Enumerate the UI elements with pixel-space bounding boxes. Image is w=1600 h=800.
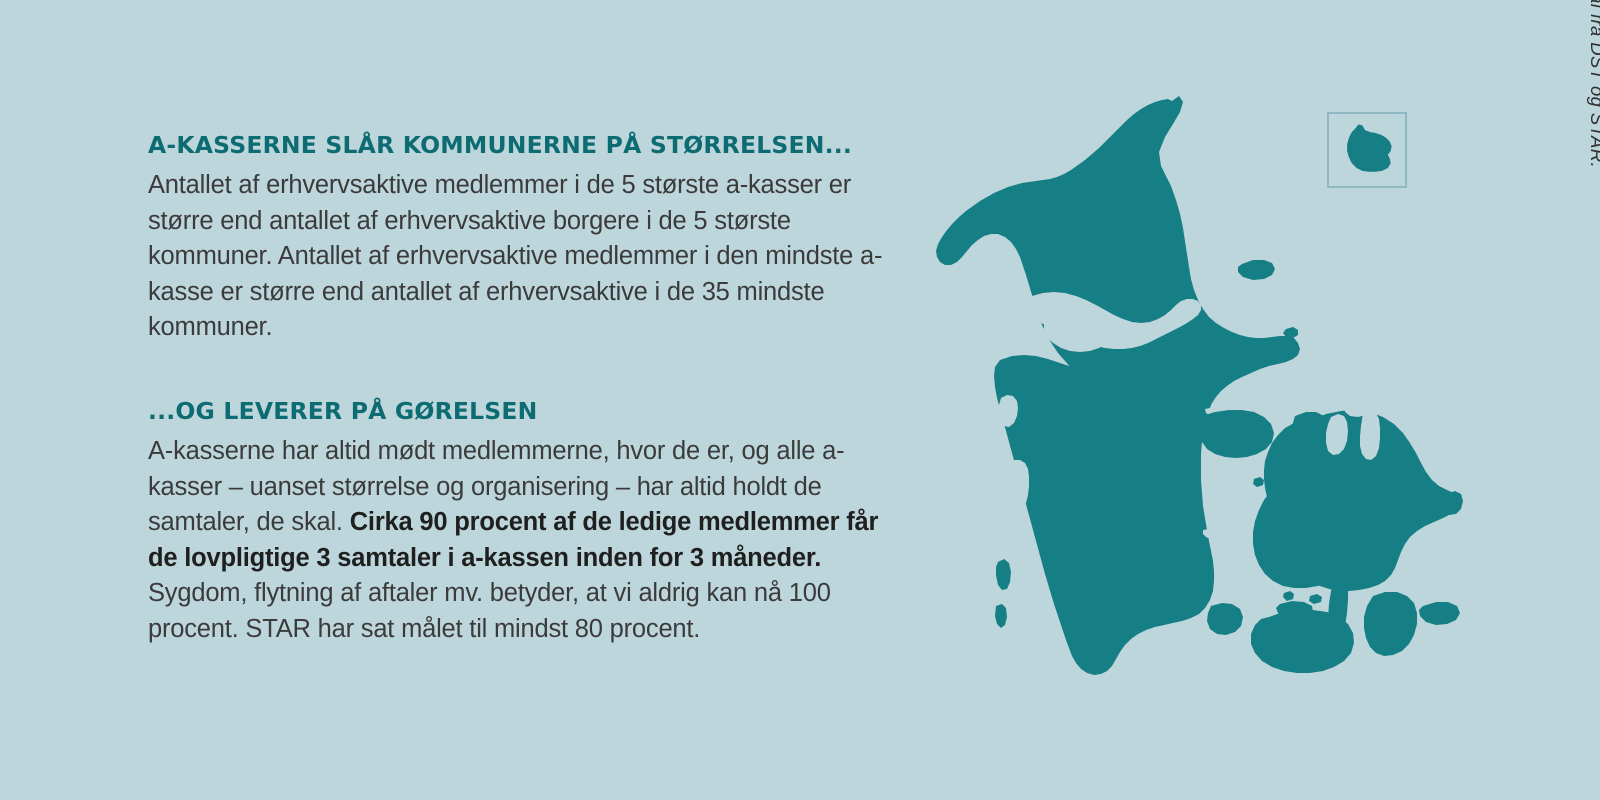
djursland (1200, 410, 1274, 458)
jutland-mainland (994, 355, 1214, 675)
section-body-stoerrelsen: Antallet af erhvervsaktive medlemmer i d… (148, 168, 908, 346)
fanoe-island (996, 559, 1011, 590)
moen-island (1419, 602, 1460, 625)
falster-island (1364, 592, 1417, 656)
roskilde-fjord (1360, 411, 1380, 460)
section-goerelsen: ...OG LEVERER PÅ GØRELSEN A-kasserne har… (148, 398, 908, 648)
bornholm-inset (1327, 112, 1407, 188)
horsens-fjord (1202, 484, 1243, 498)
text-run: Antallet af erhvervsaktive medlemmer i d… (148, 171, 882, 341)
section-heading-goerelsen: ...OG LEVERER PÅ GØRELSEN (148, 398, 908, 425)
endelave-island (1253, 477, 1264, 487)
lolland-island (1251, 610, 1354, 673)
denmark-map (880, 60, 1500, 720)
section-stoerrelsen: A-KASSERNE SLÅR KOMMUNERNE PÅ STØRRELSEN… (148, 132, 908, 346)
text-run: Sygdom, flytning af aftaler mv. betyder,… (148, 579, 831, 643)
infographic-poster: A-KASSERNE SLÅR KOMMUNERNE PÅ STØRRELSEN… (0, 0, 1600, 800)
section-body-goerelsen: A-kasserne har altid mødt medlemmerne, h… (148, 434, 908, 648)
text-column: A-KASSERNE SLÅR KOMMUNERNE PÅ STØRRELSEN… (148, 132, 908, 648)
limfjord-branch-west (983, 313, 1026, 344)
section-heading-stoerrelsen: A-KASSERNE SLÅR KOMMUNERNE PÅ STØRRELSEN… (148, 132, 908, 159)
source-credit: Kilde: DAK på baggrund af tal fra DST og… (1586, 0, 1600, 168)
roemoe-island (995, 604, 1007, 628)
bornholm-island (1347, 124, 1392, 171)
smaaland-islets (1309, 594, 1322, 604)
als-island (1207, 603, 1243, 635)
smaaland-islet-3 (1283, 591, 1294, 601)
laesoe-island (1238, 260, 1275, 280)
ringkoebing-fjord (1004, 460, 1029, 512)
